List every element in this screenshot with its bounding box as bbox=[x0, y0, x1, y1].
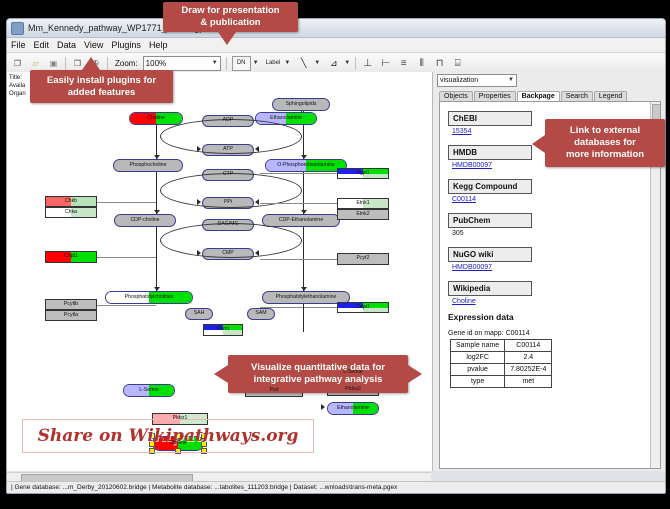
pathway-anchor-line bbox=[260, 259, 337, 260]
share-banner-text: Share on Wikipathways.org bbox=[38, 426, 299, 446]
side-panel-tabs: Objects Properties Backpage Search Legen… bbox=[433, 88, 665, 101]
metabolite-node-sphingolipids[interactable]: Sphingolipids bbox=[272, 98, 330, 111]
node-label: Psd bbox=[270, 388, 279, 393]
callout-plugins-line1: Easily install plugins for bbox=[47, 75, 156, 87]
order-icon[interactable]: ⌸ bbox=[451, 57, 464, 70]
status-bar-text: | Gene database: ...m_Derby_20120602.bri… bbox=[11, 484, 397, 491]
node-label: Pcytla bbox=[64, 313, 78, 318]
gene-node-etnk1[interactable]: Etnk1 bbox=[337, 198, 389, 209]
datanode-icon: DN bbox=[232, 56, 251, 71]
app-icon bbox=[11, 22, 24, 35]
callout-visualize: Visualize quantitative data for integrat… bbox=[228, 355, 408, 393]
pathway-anchor-line bbox=[97, 257, 156, 258]
gene-node-pcytla[interactable]: Pcytla bbox=[45, 310, 97, 321]
toolbar-separator bbox=[107, 57, 108, 70]
chevron-down-icon: ▼ bbox=[212, 60, 218, 66]
node-label: Ethanolamine bbox=[337, 406, 369, 411]
callout-draw-arrow bbox=[218, 32, 236, 45]
gene-node-chkb[interactable]: Chkb bbox=[45, 196, 97, 207]
callout-draw: Draw for presentation & publication bbox=[163, 2, 298, 32]
node-label: Sgpl1 bbox=[356, 171, 369, 176]
callout-draw-line1: Draw for presentation bbox=[181, 5, 279, 17]
arrowhead-icon bbox=[255, 250, 259, 256]
db-header-nugo-wiki: NuGO wiki bbox=[448, 247, 532, 262]
pathway-anchor-line bbox=[260, 173, 337, 174]
zoom-select[interactable]: 100% ▼ bbox=[143, 56, 221, 71]
pathway-anchor-line bbox=[260, 307, 337, 308]
toolbar-separator bbox=[226, 57, 227, 70]
db-header-kegg-compound: Kegg Compound bbox=[448, 179, 532, 194]
line-tool[interactable]: ╲ ▼ bbox=[295, 57, 320, 70]
callout-links: Link to external databases for more info… bbox=[545, 119, 665, 167]
gene-node-pcyt2[interactable]: Pcyt2 bbox=[337, 253, 389, 265]
table-cell-value: met bbox=[505, 376, 552, 388]
arrowhead-icon bbox=[255, 146, 259, 152]
pathway-connector bbox=[303, 304, 304, 330]
node-label: Choline bbox=[169, 441, 187, 446]
node-label: ADP bbox=[223, 118, 234, 123]
node-label: Phosphatidylcholines bbox=[125, 295, 174, 300]
table-cell-key: type bbox=[451, 376, 505, 388]
table-row: log2FC 2.4 bbox=[451, 352, 552, 364]
db-header-pubchem: PubChem bbox=[448, 213, 532, 228]
arrowhead-icon bbox=[301, 210, 307, 214]
meta-title: Title: bbox=[9, 74, 26, 82]
callout-visualize-line1: Visualize quantitative data for bbox=[251, 362, 385, 374]
metabolite-node-l-serine[interactable]: L-Serine bbox=[123, 384, 175, 397]
callout-links-line1: Link to external bbox=[566, 125, 644, 137]
tab-objects[interactable]: Objects bbox=[439, 91, 473, 101]
node-label: CDP-Ethanolamine bbox=[279, 218, 323, 223]
callout-plugins-line2: added features bbox=[47, 87, 156, 99]
node-label: Sphingolipids bbox=[286, 102, 317, 107]
pathway-connector bbox=[156, 125, 157, 159]
zoom-value: 100% bbox=[146, 59, 166, 68]
visualization-row: visualization ▼ bbox=[433, 72, 665, 88]
screenshot-root: Mm_Kennedy_pathway_WP1771_45176.gpml Fil… bbox=[0, 0, 670, 509]
tab-backpage[interactable]: Backpage bbox=[517, 91, 560, 101]
menu-item-help[interactable]: Help bbox=[149, 40, 168, 50]
callout-plugins-arrow bbox=[82, 57, 100, 70]
label-icon: Label bbox=[264, 57, 283, 70]
pathway-connector bbox=[303, 125, 304, 159]
node-label: SAH bbox=[194, 311, 205, 316]
node-label: Phosphatidylethanolamine bbox=[276, 295, 337, 300]
db-header-hmdb: HMDB bbox=[448, 145, 532, 160]
node-label: Phosphocholine bbox=[130, 163, 167, 168]
gene-node-etnk2[interactable]: Etnk2 bbox=[337, 209, 389, 220]
callout-visualize-line2: integrative pathway analysis bbox=[251, 374, 385, 386]
arrowhead-icon bbox=[154, 210, 160, 214]
stack-icon[interactable]: ≡ bbox=[397, 57, 410, 70]
pathway-connector bbox=[303, 111, 304, 112]
node-label: Etnk2 bbox=[356, 212, 369, 217]
toolbar-separator bbox=[65, 57, 66, 70]
group-icon[interactable]: ⊓ bbox=[433, 57, 446, 70]
tab-search[interactable]: Search bbox=[561, 91, 593, 101]
node-label: Chpt1 bbox=[64, 254, 78, 259]
callout-draw-line2: & publication bbox=[181, 17, 279, 29]
callout-plugins: Easily install plugins for added feature… bbox=[30, 70, 173, 103]
node-label: Etnk1 bbox=[356, 201, 369, 206]
node-label: Choline bbox=[147, 116, 165, 121]
node-label: Cept1 bbox=[356, 305, 370, 310]
db-header-wikipedia: Wikipedia bbox=[448, 281, 532, 296]
menu-item-view[interactable]: View bbox=[84, 40, 103, 50]
toolbar-separator bbox=[355, 57, 356, 70]
node-label: Pemt bbox=[217, 327, 229, 332]
arrowhead-icon bbox=[197, 250, 201, 256]
expression-table: Sample name C00114 log2FC 2.4 pvalue 7.8… bbox=[450, 339, 552, 388]
node-label: L-Serine bbox=[139, 388, 159, 393]
pathway-anchor-line bbox=[97, 202, 156, 203]
callout-links-line2: databases for bbox=[566, 137, 644, 149]
align-top-icon[interactable]: ⊥ bbox=[361, 57, 374, 70]
node-label: Chkb bbox=[65, 199, 77, 204]
metabolite-node-o-phosphoethanolamine[interactable]: O-Phosphoethanolamine bbox=[265, 159, 347, 172]
table-row: Sample name C00114 bbox=[451, 340, 552, 352]
metabolite-node-phosphatidylcholines[interactable]: Phosphatidylcholines bbox=[105, 291, 193, 304]
node-label: CTP bbox=[223, 172, 233, 177]
visualization-value: visualization bbox=[440, 77, 478, 84]
menu-item-edit[interactable]: Edit bbox=[34, 40, 50, 50]
metabolite-node-cdp-ethanolamine[interactable]: CDP-Ethanolamine bbox=[262, 214, 340, 227]
tab-legend[interactable]: Legend bbox=[594, 91, 627, 101]
arrowhead-icon bbox=[255, 199, 259, 205]
label-tool[interactable]: Label ▼ bbox=[264, 57, 291, 70]
arrowhead-icon bbox=[321, 404, 325, 410]
title-bar: Mm_Kennedy_pathway_WP1771_45176.gpml bbox=[7, 19, 665, 38]
meta-organism: Organ bbox=[9, 90, 26, 98]
visualization-select[interactable]: visualization ▼ bbox=[437, 74, 517, 87]
chevron-down-icon: ▼ bbox=[314, 60, 320, 66]
db-link-nugo-wiki[interactable]: HMDB00097 bbox=[452, 264, 660, 271]
arrowhead-icon bbox=[197, 199, 201, 205]
open-folder-icon[interactable]: ▱ bbox=[29, 57, 42, 70]
shape-tool[interactable]: ⊿ ▼ bbox=[325, 57, 350, 70]
node-label: ATP bbox=[223, 147, 233, 152]
arrowhead-icon bbox=[301, 287, 307, 291]
node-label: O-Phosphoethanolamine bbox=[277, 163, 334, 168]
table-cell-value: 7.80252E-4 bbox=[505, 364, 552, 376]
expression-data-title: Expression data bbox=[448, 312, 660, 322]
chevron-down-icon: ▼ bbox=[284, 60, 290, 66]
menu-item-plugins[interactable]: Plugins bbox=[111, 40, 141, 50]
gene-node-pemt[interactable]: Pemt bbox=[203, 324, 243, 336]
chevron-down-icon: ▼ bbox=[344, 60, 350, 66]
meta-availability: Availa bbox=[9, 82, 26, 90]
table-cell-key: pvalue bbox=[451, 364, 505, 376]
node-label: Ethanolamine bbox=[270, 116, 302, 121]
chevron-down-icon: ▼ bbox=[253, 60, 259, 66]
metabolite-node-cdp-choline[interactable]: CDP-choline bbox=[114, 214, 176, 227]
gene-id-line: Gene id on mapp: C00114 bbox=[448, 330, 660, 337]
gene-node-sgpl1[interactable]: Sgpl1 bbox=[337, 168, 389, 179]
db-link-kegg-compound[interactable]: C00114 bbox=[452, 196, 660, 203]
metabolite-node-choline[interactable]: Choline bbox=[129, 112, 183, 125]
table-row: type met bbox=[451, 376, 552, 388]
pathway-connector bbox=[156, 172, 157, 214]
gene-node-pcytlb[interactable]: Pcytlb bbox=[45, 299, 97, 310]
pathway-drawing[interactable]: SphingolipidsCholineEthanolamineADPATPPh… bbox=[7, 72, 432, 471]
arrowhead-icon bbox=[154, 287, 160, 291]
callout-links-arrow bbox=[532, 135, 545, 153]
pathway-connector bbox=[303, 172, 304, 214]
chevron-down-icon: ▼ bbox=[508, 77, 514, 83]
node-label: Pldsr1 bbox=[173, 416, 188, 421]
menu-item-data[interactable]: Data bbox=[57, 40, 76, 50]
gene-node-cept1[interactable]: Cept1 bbox=[337, 302, 389, 313]
tab-properties[interactable]: Properties bbox=[474, 91, 516, 101]
pathway-meta: Title: Availa Organ bbox=[9, 74, 26, 98]
metabolite-node-sam[interactable]: SAM bbox=[247, 308, 275, 320]
table-row: pvalue 7.80252E-4 bbox=[451, 364, 552, 376]
callout-visualize-arrow-right bbox=[408, 365, 422, 383]
node-label: L-Serine bbox=[343, 370, 363, 375]
metabolite-node-sah[interactable]: SAH bbox=[185, 308, 213, 320]
datanode-tool[interactable]: DN ▼ bbox=[232, 56, 259, 71]
node-label: SAM bbox=[255, 311, 266, 316]
node-label: Ptdss2 bbox=[345, 387, 361, 392]
db-value-pubchem: 305 bbox=[452, 230, 660, 237]
new-file-icon[interactable]: ❐ bbox=[11, 57, 24, 70]
pathway-canvas[interactable]: SphingolipidsCholineEthanolamineADPATPPh… bbox=[7, 72, 433, 471]
zoom-label: Zoom: bbox=[115, 59, 138, 68]
node-label: PPi bbox=[224, 200, 232, 205]
shape-icon: ⊿ bbox=[325, 57, 342, 70]
node-label: CMP bbox=[222, 251, 234, 256]
line-icon: ╲ bbox=[295, 57, 312, 70]
node-label: CDP-choline bbox=[130, 218, 159, 223]
pathway-connector bbox=[301, 111, 302, 112]
db-header-chebi: ChEBI bbox=[448, 111, 532, 126]
save-icon[interactable]: ▣ bbox=[47, 57, 60, 70]
arrowhead-icon bbox=[154, 155, 160, 159]
menu-item-file[interactable]: File bbox=[11, 40, 26, 50]
gene-node-chpt1[interactable]: Chpt1 bbox=[45, 251, 97, 263]
share-banner: Share on Wikipathways.org bbox=[22, 419, 314, 453]
node-label: Chka bbox=[65, 210, 77, 215]
menu-bar: File Edit Data View Plugins Help bbox=[7, 38, 665, 53]
node-label: DAG/MG bbox=[217, 222, 238, 227]
table-cell-key: log2FC bbox=[451, 352, 505, 364]
table-cell-key: Sample name bbox=[451, 340, 505, 352]
node-label: Pcytlb bbox=[64, 302, 78, 307]
pathway-anchor-line bbox=[97, 305, 156, 306]
table-cell-value: C00114 bbox=[505, 340, 552, 352]
align-left-icon[interactable]: ⊢ bbox=[379, 57, 392, 70]
gene-node-chka[interactable]: Chka bbox=[45, 207, 97, 218]
arrowhead-icon bbox=[301, 155, 307, 159]
metabolite-node-phosphocholine[interactable]: Phosphocholine bbox=[113, 159, 183, 172]
table-cell-value: 2.4 bbox=[505, 352, 552, 364]
arrowhead-icon bbox=[197, 146, 201, 152]
metabolite-node-ethanolamine[interactable]: Ethanolamine bbox=[327, 402, 379, 415]
db-link-wikipedia[interactable]: Choline bbox=[452, 298, 660, 305]
node-label: Pcyt2 bbox=[357, 256, 370, 261]
pathway-anchor-line bbox=[260, 203, 337, 204]
status-bar: | Gene database: ...m_Derby_20120602.bri… bbox=[7, 481, 665, 493]
callout-links-line3: more information bbox=[566, 149, 644, 161]
pathway-connector bbox=[156, 227, 157, 291]
callout-visualize-arrow-left bbox=[214, 365, 228, 383]
distribute-icon[interactable]: ⦀ bbox=[415, 57, 428, 70]
